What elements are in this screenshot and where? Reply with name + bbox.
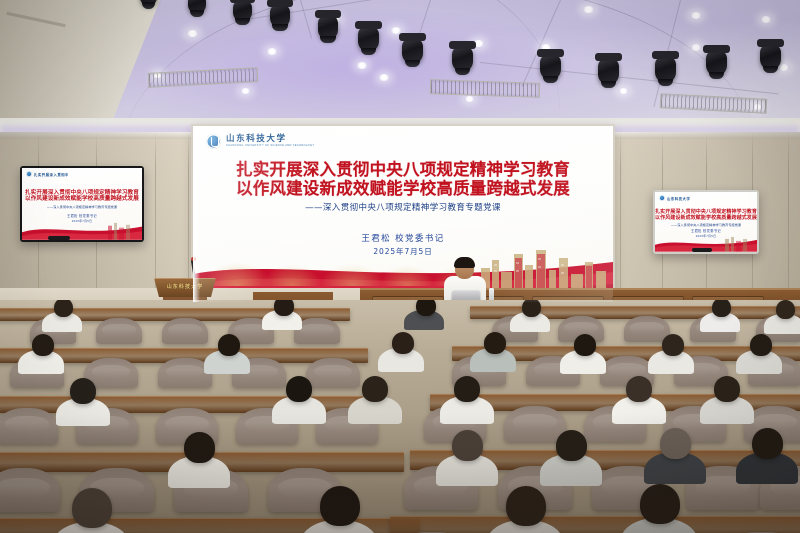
attendee-head bbox=[752, 428, 783, 459]
auditorium-seat bbox=[0, 408, 58, 444]
attendee-head bbox=[72, 488, 112, 528]
right-monitor-title: 扎实开展深入贯彻中央八项规定精神学习教育 以作风建设新成效赋能学校高质量跨越式发… bbox=[655, 210, 757, 228]
slide-title-line1: 扎实开展深入贯彻中央八项规定精神学习教育 bbox=[193, 160, 613, 179]
slide-speaker-line: 王君松 校党委书记 bbox=[193, 232, 613, 244]
recessed-downlight bbox=[618, 88, 629, 94]
microphone-icon bbox=[191, 257, 196, 261]
recessed-downlight bbox=[378, 74, 390, 81]
stage-spotlight bbox=[140, 0, 157, 6]
auditorium-seat bbox=[306, 358, 360, 388]
attendee-head bbox=[556, 430, 587, 461]
attendee-head bbox=[416, 300, 436, 316]
attendee-head bbox=[574, 334, 596, 356]
attendee-head bbox=[218, 334, 240, 356]
attendee-head bbox=[640, 484, 680, 524]
ceiling bbox=[0, 0, 800, 132]
attendee-head bbox=[776, 300, 795, 319]
auditorium-seat bbox=[96, 318, 142, 344]
attendee-head bbox=[626, 376, 652, 402]
attendee-head bbox=[184, 432, 215, 463]
recessed-downlight bbox=[582, 6, 595, 13]
main-projection-screen: 山东科技大学 SHANDONG UNIVERSITY OF SCIENCE AN… bbox=[193, 126, 613, 302]
stage-spotlight bbox=[402, 38, 423, 64]
recessed-downlight bbox=[690, 44, 702, 51]
podium-nameplate: 山东科技大学 bbox=[154, 283, 216, 290]
glasses-icon bbox=[456, 266, 473, 271]
recessed-downlight bbox=[356, 62, 368, 69]
attendee-head bbox=[286, 376, 312, 402]
attendee-head bbox=[484, 332, 506, 354]
attendee-head bbox=[454, 376, 480, 402]
recessed-downlight bbox=[760, 16, 772, 23]
attendee-head bbox=[662, 334, 684, 356]
stage-spotlight bbox=[270, 4, 290, 28]
stage-spotlight bbox=[188, 0, 206, 14]
left-monitor-title: 扎实开展深入贯彻中央八项规定精神学习教育 以作风建设新成效赋能学校高质量跨越式发… bbox=[22, 190, 142, 211]
ribbon-svg bbox=[22, 221, 142, 240]
presentation-slide: 山东科技大学 SHANDONG UNIVERSITY OF SCIENCE AN… bbox=[193, 126, 613, 302]
left-monitor-speaker: 王君松 校党委书记 bbox=[22, 213, 142, 218]
right-monitor-title-line2: 以作风建设新成效赋能学校高质量跨越式发展 bbox=[655, 216, 757, 222]
attendee-head bbox=[320, 486, 360, 526]
auditorium-seat bbox=[0, 468, 60, 512]
university-logo-icon bbox=[26, 171, 32, 177]
recessed-downlight bbox=[690, 12, 702, 19]
right-monitor-logo: 山东科技大学 bbox=[659, 195, 690, 201]
attendee-head bbox=[712, 300, 731, 317]
slide-logo-cn: 山东科技大学 bbox=[226, 135, 314, 144]
stage-spotlight bbox=[598, 58, 619, 85]
left-monitor-ribbon-art bbox=[22, 221, 142, 240]
auditorium-seat bbox=[504, 406, 566, 442]
right-monitor-mount bbox=[692, 248, 712, 252]
university-logo-icon bbox=[206, 134, 221, 149]
stage-spotlight bbox=[706, 50, 727, 76]
stage-spotlight bbox=[655, 56, 676, 83]
right-monitor-screen: 山东科技大学 扎实开展深入贯彻中央八项规定精神学习教育 以作风建设新成效赋能学校… bbox=[655, 192, 757, 252]
stage-spotlight bbox=[318, 15, 338, 40]
recessed-downlight bbox=[266, 48, 278, 55]
stage-spotlight bbox=[233, 0, 252, 22]
recessed-downlight bbox=[778, 64, 790, 71]
attendee-head bbox=[70, 378, 96, 404]
attendee-head bbox=[750, 334, 772, 356]
stage-spotlight bbox=[358, 26, 379, 52]
attendee-head bbox=[54, 300, 73, 317]
lecture-hall-photograph: 扎实开展深入贯彻中央八项规定精神学习教育 扎实开展深入贯彻中央八项规定精神学习教… bbox=[0, 0, 800, 533]
left-monitor-screen: 扎实开展深入贯彻中央八项规定精神学习教育 扎实开展深入贯彻中央八项规定精神学习教… bbox=[22, 168, 142, 240]
slide-university-logo: 山东科技大学 SHANDONG UNIVERSITY OF SCIENCE AN… bbox=[206, 134, 314, 149]
university-logo-icon bbox=[659, 195, 665, 201]
left-wall-monitor: 扎实开展深入贯彻中央八项规定精神学习教育 扎实开展深入贯彻中央八项规定精神学习教… bbox=[20, 166, 144, 242]
right-monitor-logo-text: 山东科技大学 bbox=[667, 196, 690, 201]
slide-logo-text-group: 山东科技大学 SHANDONG UNIVERSITY OF SCIENCE AN… bbox=[226, 135, 314, 148]
stage-spotlight bbox=[452, 46, 473, 72]
left-monitor-title-line2: 以作风建设新成效赋能学校高质量跨越式发展 bbox=[22, 196, 142, 203]
attendee-head bbox=[714, 376, 740, 402]
attendee-head bbox=[362, 376, 388, 402]
left-monitor-logo: 扎实开展深入贯彻中央八项规定精神学习教育 bbox=[26, 171, 68, 177]
attendee-head bbox=[522, 300, 541, 317]
recessed-downlight bbox=[464, 96, 475, 102]
attendee-head bbox=[392, 332, 414, 354]
left-monitor-mount bbox=[48, 236, 70, 240]
attendee-head bbox=[274, 300, 294, 316]
attendee-head bbox=[32, 334, 54, 356]
recessed-downlight bbox=[186, 30, 199, 37]
slide-logo-en: SHANDONG UNIVERSITY OF SCIENCE AND TECHN… bbox=[226, 145, 314, 148]
attendee-head bbox=[506, 486, 546, 526]
slide-subtitle: ——深入贯彻中央八项规定精神学习教育专题党课 bbox=[193, 201, 613, 213]
slide-city-skyline bbox=[479, 248, 609, 292]
slide-title-block: 扎实开展深入贯彻中央八项规定精神学习教育 以作风建设新成效赋能学校高质量跨越式发… bbox=[193, 160, 613, 213]
left-monitor-logo-text: 扎实开展深入贯彻中央八项规定精神学习教育 bbox=[34, 172, 68, 177]
desk-row bbox=[390, 516, 800, 533]
attendee-head bbox=[452, 430, 483, 461]
recessed-downlight bbox=[240, 88, 251, 94]
attendee-head bbox=[660, 428, 691, 459]
stage-spotlight bbox=[760, 44, 781, 70]
stage-spotlight bbox=[540, 54, 561, 80]
right-wall-monitor: 山东科技大学 扎实开展深入贯彻中央八项规定精神学习教育 以作风建设新成效赋能学校… bbox=[653, 190, 759, 254]
auditorium-seat bbox=[162, 318, 208, 344]
left-monitor-subtitle: ——深入贯彻中央八项规定精神学习教育专题党课 bbox=[22, 204, 142, 211]
audience-area bbox=[0, 300, 800, 533]
slide-title-line2: 以作风建设新成效赋能学校高质量跨越式发展 bbox=[193, 179, 613, 198]
